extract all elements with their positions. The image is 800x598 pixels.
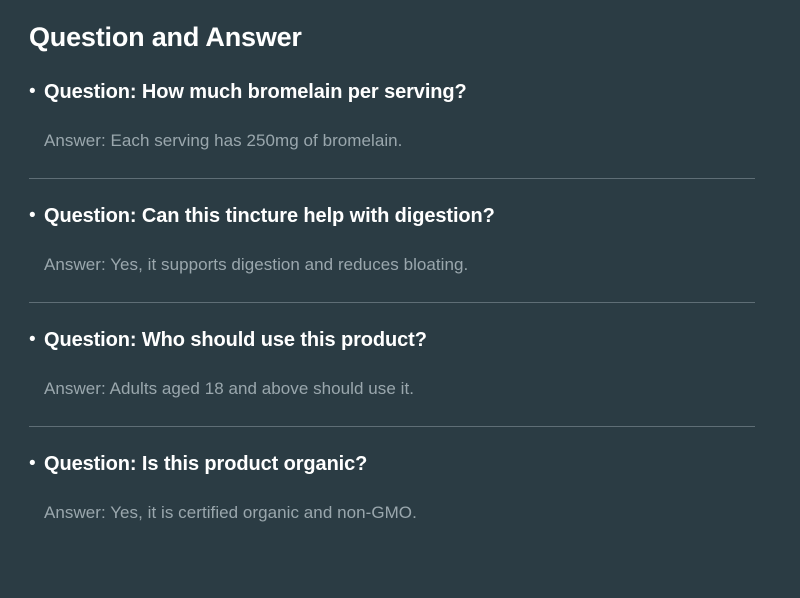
qa-answer: Answer: Adults aged 18 and above should … (44, 377, 775, 401)
qa-question: Question: Who should use this product? (44, 327, 427, 353)
qa-answer: Answer: Yes, it supports digestion and r… (44, 253, 775, 277)
list-item: • Question: Can this tincture help with … (29, 203, 775, 303)
bullet-icon: • (29, 451, 44, 477)
list-item: • Question: Who should use this product?… (29, 327, 775, 427)
bullet-icon: • (29, 327, 44, 353)
qa-answer: Answer: Yes, it is certified organic and… (44, 501, 775, 525)
qa-question: Question: Is this product organic? (44, 451, 367, 477)
qa-question-row: • Question: How much bromelain per servi… (29, 79, 775, 105)
qa-question-row: • Question: Is this product organic? (29, 451, 775, 477)
page-title: Question and Answer (29, 22, 775, 53)
qa-question: Question: How much bromelain per serving… (44, 79, 467, 105)
qa-list: • Question: How much bromelain per servi… (29, 79, 775, 525)
bullet-icon: • (29, 79, 44, 105)
bullet-icon: • (29, 203, 44, 229)
list-item: • Question: How much bromelain per servi… (29, 79, 775, 179)
question-and-answer-panel: Question and Answer • Question: How much… (0, 0, 800, 598)
divider (29, 178, 755, 179)
divider (29, 302, 755, 303)
list-item: • Question: Is this product organic? Ans… (29, 451, 775, 525)
qa-question: Question: Can this tincture help with di… (44, 203, 495, 229)
qa-answer: Answer: Each serving has 250mg of bromel… (44, 129, 775, 153)
qa-question-row: • Question: Who should use this product? (29, 327, 775, 353)
divider (29, 426, 755, 427)
qa-question-row: • Question: Can this tincture help with … (29, 203, 775, 229)
